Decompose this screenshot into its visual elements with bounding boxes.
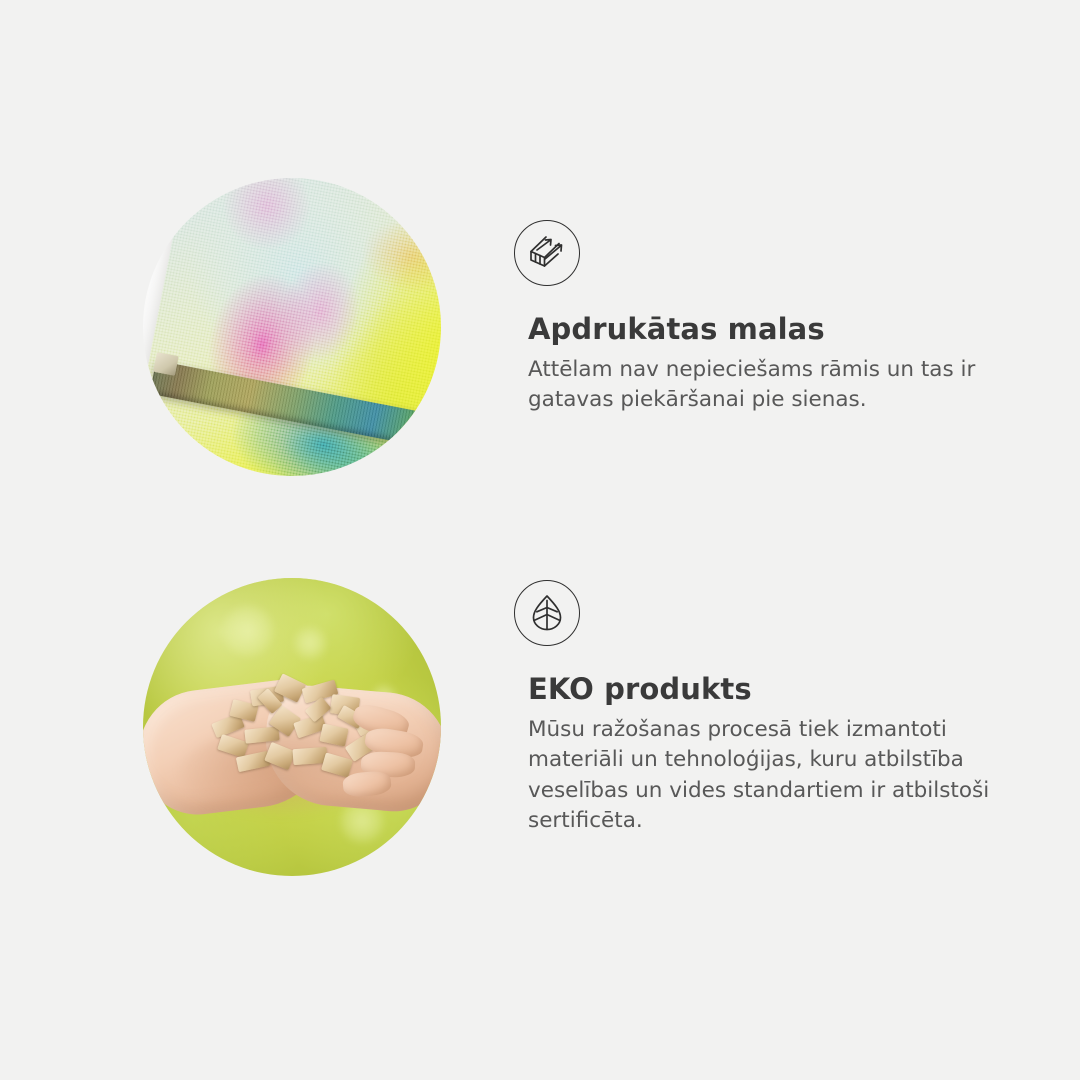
feature-block-printed-edges: Apdrukātas malas Attēlam nav nepieciešam…	[0, 160, 1080, 520]
feature-content-printed-edges: Apdrukātas malas Attēlam nav nepieciešam…	[514, 220, 1014, 416]
canvas-corner-tip	[153, 352, 178, 376]
leaf-icon	[514, 580, 580, 646]
feature-content-eco-product: EKO produkts Mūsu ražošanas procesā tiek…	[514, 580, 1014, 837]
feature-description: Attēlam nav nepieciešams rāmis un tas ir…	[528, 355, 1014, 416]
bokeh-highlight	[221, 604, 275, 658]
bokeh-highlight	[293, 626, 327, 660]
feature-title: Apdrukātas malas	[528, 312, 1014, 347]
eco-photo-background	[143, 578, 441, 876]
feature-infographic: Apdrukātas malas Attēlam nav nepieciešam…	[0, 0, 1080, 1080]
feature-block-eco-product: EKO produkts Mūsu ražošanas procesā tiek…	[0, 560, 1080, 960]
feature-description: Mūsu ražošanas procesā tiek izmantoti ma…	[528, 715, 1014, 837]
canvas-corner-photo	[143, 178, 441, 476]
wood-chips-in-hands-photo	[143, 578, 441, 876]
canvas-wrapped-edges-icon	[514, 220, 580, 286]
canvas-photo-backdrop	[143, 178, 441, 476]
feature-title: EKO produkts	[528, 672, 1014, 707]
